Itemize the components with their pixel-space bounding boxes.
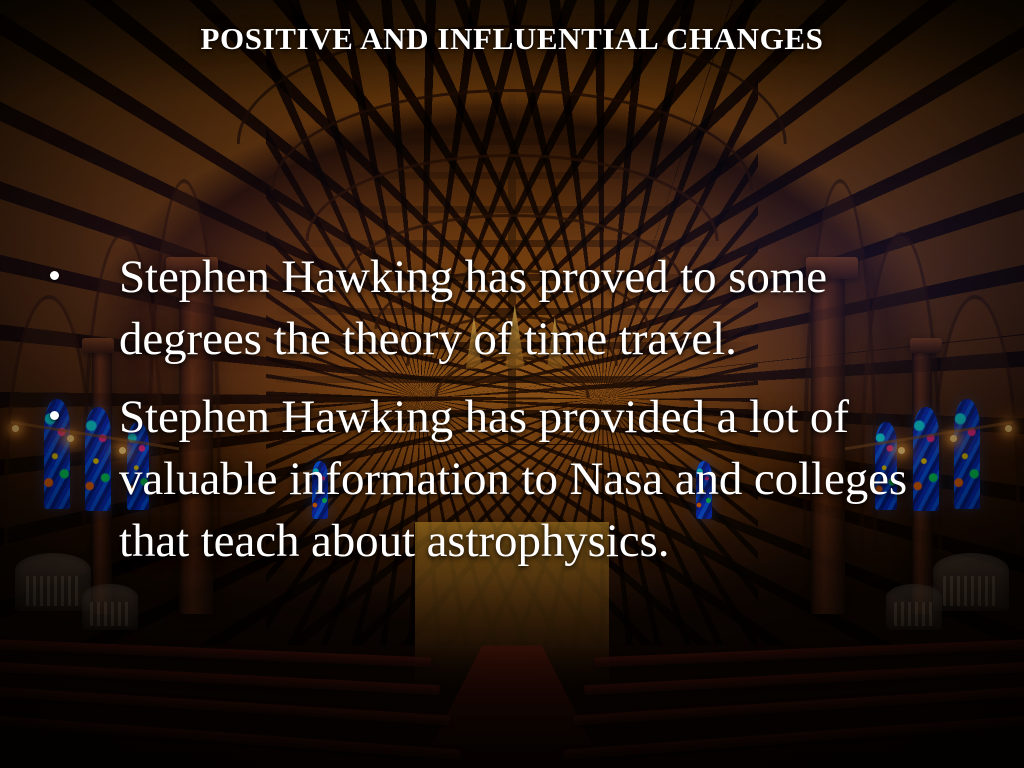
- presentation-slide: POSITIVE AND INFLUENTIAL CHANGES Stephen…: [0, 0, 1024, 768]
- bullet-item: Stephen Hawking has proved to some degre…: [50, 246, 960, 370]
- bullet-dot-icon: [50, 411, 59, 420]
- bullet-dot-icon: [50, 271, 59, 280]
- bullet-item-text: Stephen Hawking has provided a lot of va…: [119, 386, 960, 572]
- bullet-item: Stephen Hawking has provided a lot of va…: [50, 386, 960, 572]
- bullet-list: Stephen Hawking has proved to some degre…: [50, 246, 960, 588]
- slide-content: POSITIVE AND INFLUENTIAL CHANGES Stephen…: [0, 0, 1024, 768]
- slide-title: POSITIVE AND INFLUENTIAL CHANGES: [0, 22, 1024, 57]
- bullet-item-text: Stephen Hawking has proved to some degre…: [119, 246, 960, 370]
